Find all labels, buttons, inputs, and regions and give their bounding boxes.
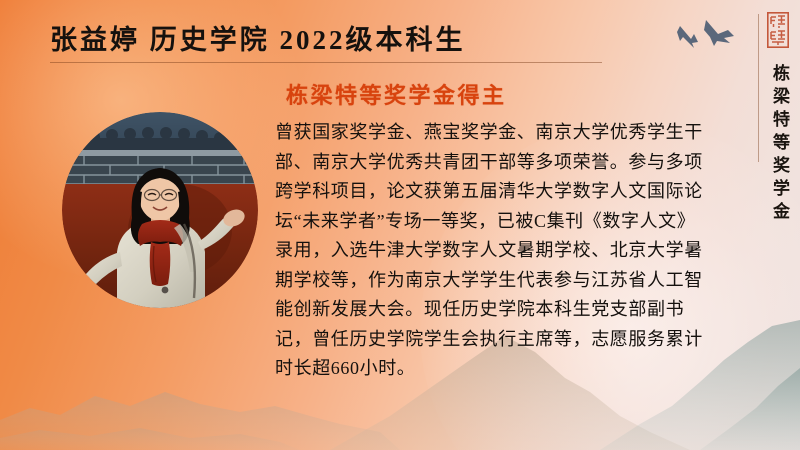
biography-paragraph: 曾获国家奖学金、燕宝奖学金、南京大学优秀学生干 部、南京大学优秀共青团干部等多项… [275,118,777,384]
title-underline-rule [50,62,602,63]
body-line: 记，曾任历史学院学生会执行主席等，志愿服务累计 [275,325,777,355]
slide-root: 张益婷 历史学院 2022级本科生 栋梁特等奖学金得主 曾获国家奖学金、燕宝奖学… [0,0,800,450]
body-line: 坛“未来学者”专场一等奖，已被C集刊《数字人文》 [275,207,777,237]
body-line: 能创新发展大会。现任历史学院本科生党支部副书 [275,295,777,325]
body-line: 录用，入选牛津大学数字人文暑期学校、北京大学暑 [275,236,777,266]
body-line: 部、南京大学优秀共青团干部等多项荣誉。参与多项 [275,148,777,178]
body-line: 跨学科项目，论文获第五届清华大学数字人文国际论 [275,177,777,207]
body-line: 时长超660小时。 [275,354,777,384]
body-line: 期学校等，作为南京大学学生代表参与江苏省人工智 [275,266,777,296]
portrait-photo-image [62,112,258,308]
page-title: 张益婷 历史学院 2022级本科生 [50,18,466,57]
award-subtitle: 栋梁特等奖学金得主 [286,78,507,110]
seal-stamp-icon [767,12,789,48]
portrait-photo [62,112,258,308]
sidebar-vertical-rule [758,14,759,162]
sidebar-vertical-title: 栋梁特等奖学金 [768,64,790,225]
body-line: 曾获国家奖学金、燕宝奖学金、南京大学优秀学生干 [275,118,777,148]
